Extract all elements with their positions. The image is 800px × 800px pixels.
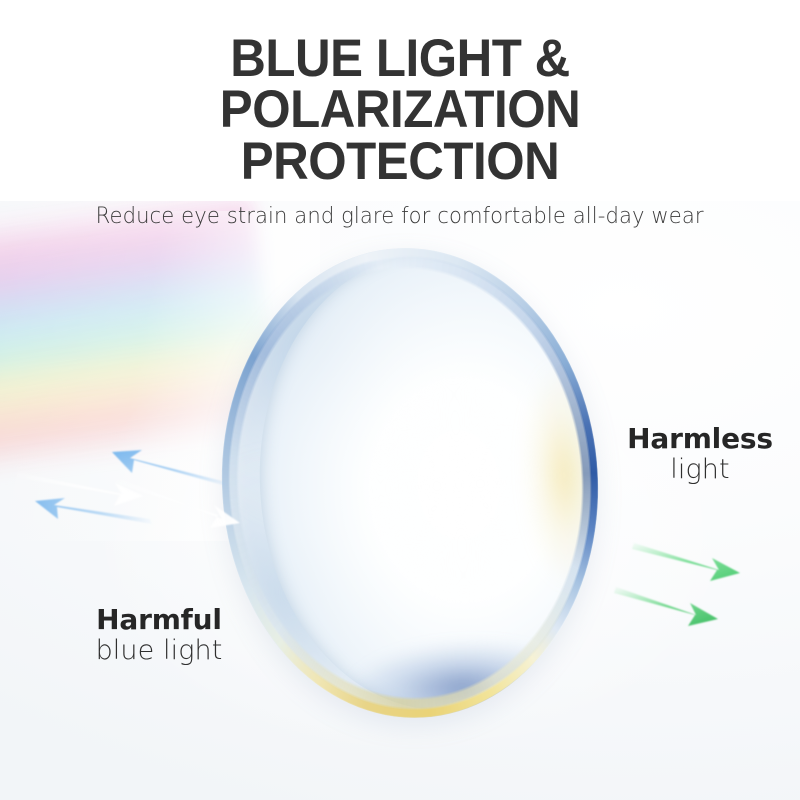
reflected-arrow-bottom [35, 498, 152, 524]
header-band: BLUE LIGHT & POLARIZATIONPROTECTION Redu… [0, 0, 800, 201]
transmitted-arrow-lower [614, 587, 718, 626]
label-harmless-strong: Harmless [600, 423, 800, 454]
label-harmful-strong: Harmful [44, 604, 274, 635]
illustration-scene: Harmful blue light Harmless light [0, 201, 800, 800]
page-title-line1: BLUE LIGHT & POLARIZATION [220, 29, 580, 139]
transmitted-arrow-upper [632, 543, 740, 581]
label-harmful-blue-light: Harmful blue light [44, 604, 274, 667]
page-title-line2: PROTECTION [47, 136, 754, 187]
label-harmless-light: Harmless light [600, 423, 800, 486]
incident-arrow-bottom [14, 472, 143, 506]
label-harmless-light: light [600, 454, 800, 486]
promo-banner: BLUE LIGHT & POLARIZATIONPROTECTION Redu… [0, 0, 800, 800]
label-harmful-light: blue light [44, 635, 274, 667]
page-title: BLUE LIGHT & POLARIZATIONPROTECTION [47, 0, 754, 187]
page-subtitle: Reduce eye strain and glare for comforta… [96, 187, 704, 229]
